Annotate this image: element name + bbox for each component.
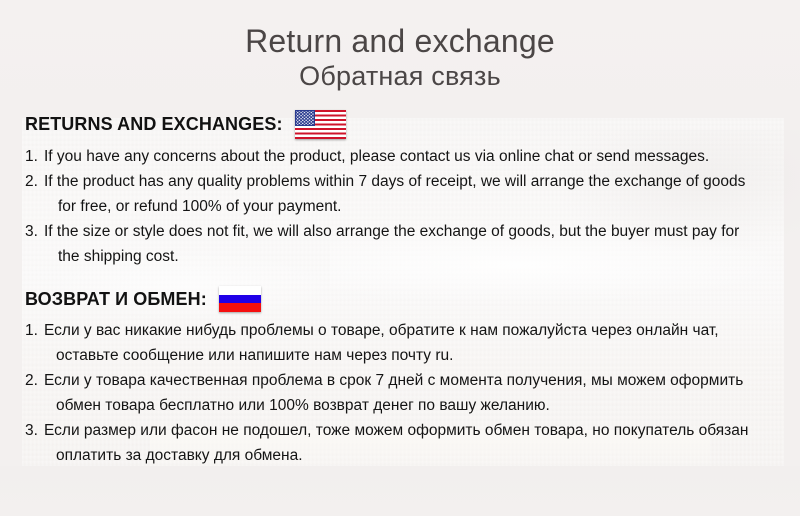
list-russian: 1. Если у вас никакие нибудь проблемы о … — [25, 318, 777, 468]
list-item-text: If you have any concerns about the produ… — [44, 144, 777, 169]
us-flag-canton — [295, 110, 315, 126]
list-item-text: Если у товара качественная проблема в ср… — [44, 368, 777, 418]
ru-flag-band-blue — [219, 295, 261, 304]
list-english: 1. If you have any concerns about the pr… — [25, 144, 777, 269]
us-flag-stars — [296, 111, 314, 125]
section-heading-label-english: RETURNS AND EXCHANGES: — [25, 114, 283, 135]
list-item-line: the shipping cost. — [44, 244, 777, 269]
list-item-line: обмен товара бесплатно или 100% возврат … — [44, 393, 777, 418]
list-item-text: If the size or style does not fit, we wi… — [44, 219, 777, 269]
list-item: 2. If the product has any quality proble… — [25, 169, 777, 219]
list-item-text: Если размер или фасон не подошел, тоже м… — [44, 418, 777, 468]
list-item-line: If you have any concerns about the produ… — [44, 148, 709, 165]
list-item-line: If the size or style does not fit, we wi… — [44, 223, 739, 240]
us-flag-icon — [295, 110, 346, 139]
list-item: 1. If you have any concerns about the pr… — [25, 144, 777, 169]
list-item-number: 2. — [25, 169, 44, 194]
list-item-line: Если у товара качественная проблема в ср… — [44, 372, 743, 389]
list-item-text: If the product has any quality problems … — [44, 169, 777, 219]
list-item-number: 3. — [25, 219, 44, 244]
list-item-line: оставьте сообщение или напишите нам чере… — [44, 343, 777, 368]
list-item-line: Если размер или фасон не подошел, тоже м… — [44, 422, 748, 439]
ru-flag-band-white — [219, 286, 261, 295]
list-item: 3. Если размер или фасон не подошел, тож… — [25, 418, 777, 468]
page-title-block: Return and exchange Обратная связь — [0, 22, 800, 93]
background-texture-bottom — [0, 466, 800, 516]
list-item-number: 2. — [25, 368, 44, 393]
list-item-line: оплатить за доставку для обмена. — [44, 443, 777, 468]
list-item-number: 3. — [25, 418, 44, 443]
ru-flag-icon — [219, 286, 261, 312]
list-item: 3. If the size or style does not fit, we… — [25, 219, 777, 269]
list-item-line: for free, or refund 100% of your payment… — [44, 194, 777, 219]
list-item-line: Если у вас никакие нибудь проблемы о тов… — [44, 322, 719, 339]
page-title-russian: Обратная связь — [0, 60, 800, 93]
list-item: 1. Если у вас никакие нибудь проблемы о … — [25, 318, 777, 368]
section-header-russian: ВОЗВРАТ И ОБМЕН: — [25, 286, 261, 312]
list-item-text: Если у вас никакие нибудь проблемы о тов… — [44, 318, 777, 368]
ru-flag-band-red — [219, 303, 261, 312]
page-title-english: Return and exchange — [0, 22, 800, 60]
section-heading-label-russian: ВОЗВРАТ И ОБМЕН: — [25, 289, 207, 310]
return-exchange-infographic: Return and exchange Обратная связь RETUR… — [0, 0, 800, 516]
list-item-number: 1. — [25, 144, 44, 169]
list-item-number: 1. — [25, 318, 44, 343]
list-item-line: If the product has any quality problems … — [44, 173, 745, 190]
section-header-english: RETURNS AND EXCHANGES: — [25, 110, 346, 139]
list-item: 2. Если у товара качественная проблема в… — [25, 368, 777, 418]
